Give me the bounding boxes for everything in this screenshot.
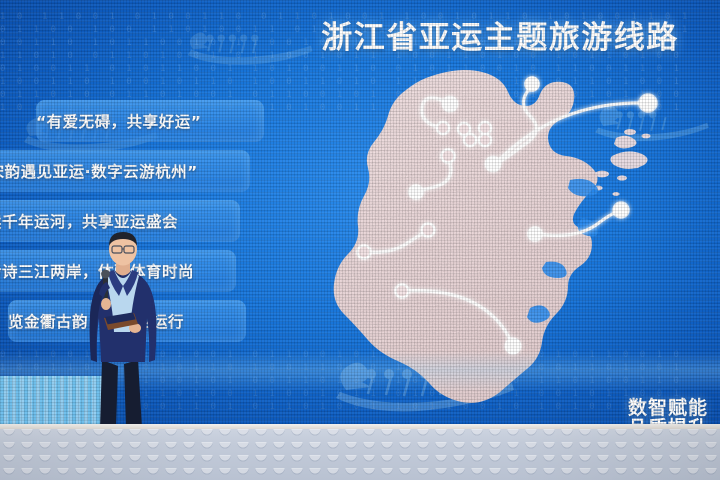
route-node — [358, 246, 371, 259]
stage-shading — [0, 424, 720, 480]
offshore-islands — [593, 129, 650, 196]
speaker-person — [72, 232, 174, 428]
route-node — [464, 134, 476, 146]
page-title: 浙江省亚运主题旅游线路 — [300, 12, 700, 57]
route-node — [422, 224, 435, 237]
route-node — [525, 77, 539, 91]
zhejiang-province-map — [330, 62, 720, 412]
route-node — [437, 122, 449, 134]
route-node — [486, 157, 501, 172]
route-node — [506, 339, 521, 354]
stage-apron — [0, 424, 720, 480]
list-item[interactable]: “有爱无碍，共享好运” — [36, 100, 264, 142]
route-node — [479, 134, 491, 146]
route-node — [614, 203, 629, 218]
route-node — [528, 227, 542, 241]
route-node — [479, 122, 491, 134]
route-node — [396, 285, 409, 298]
route-node — [409, 185, 423, 199]
route-node-zhoushan — [640, 95, 657, 112]
route-label: “有爱无碍，共享好运” — [36, 110, 264, 132]
route-label: “宋韵遇见亚运·数字云游杭州” — [0, 160, 250, 182]
route-node — [442, 150, 455, 163]
route-label: 走读千年运河，共享亚运盛会 — [0, 210, 240, 232]
list-item[interactable]: “宋韵遇见亚运·数字云游杭州” — [0, 150, 250, 192]
venue-stage-scene: 1 0 1 1 0 0 1 0 1 0 0 1 1 0 0 1 1 0 1 0 … — [0, 0, 720, 480]
route-node — [443, 97, 458, 112]
